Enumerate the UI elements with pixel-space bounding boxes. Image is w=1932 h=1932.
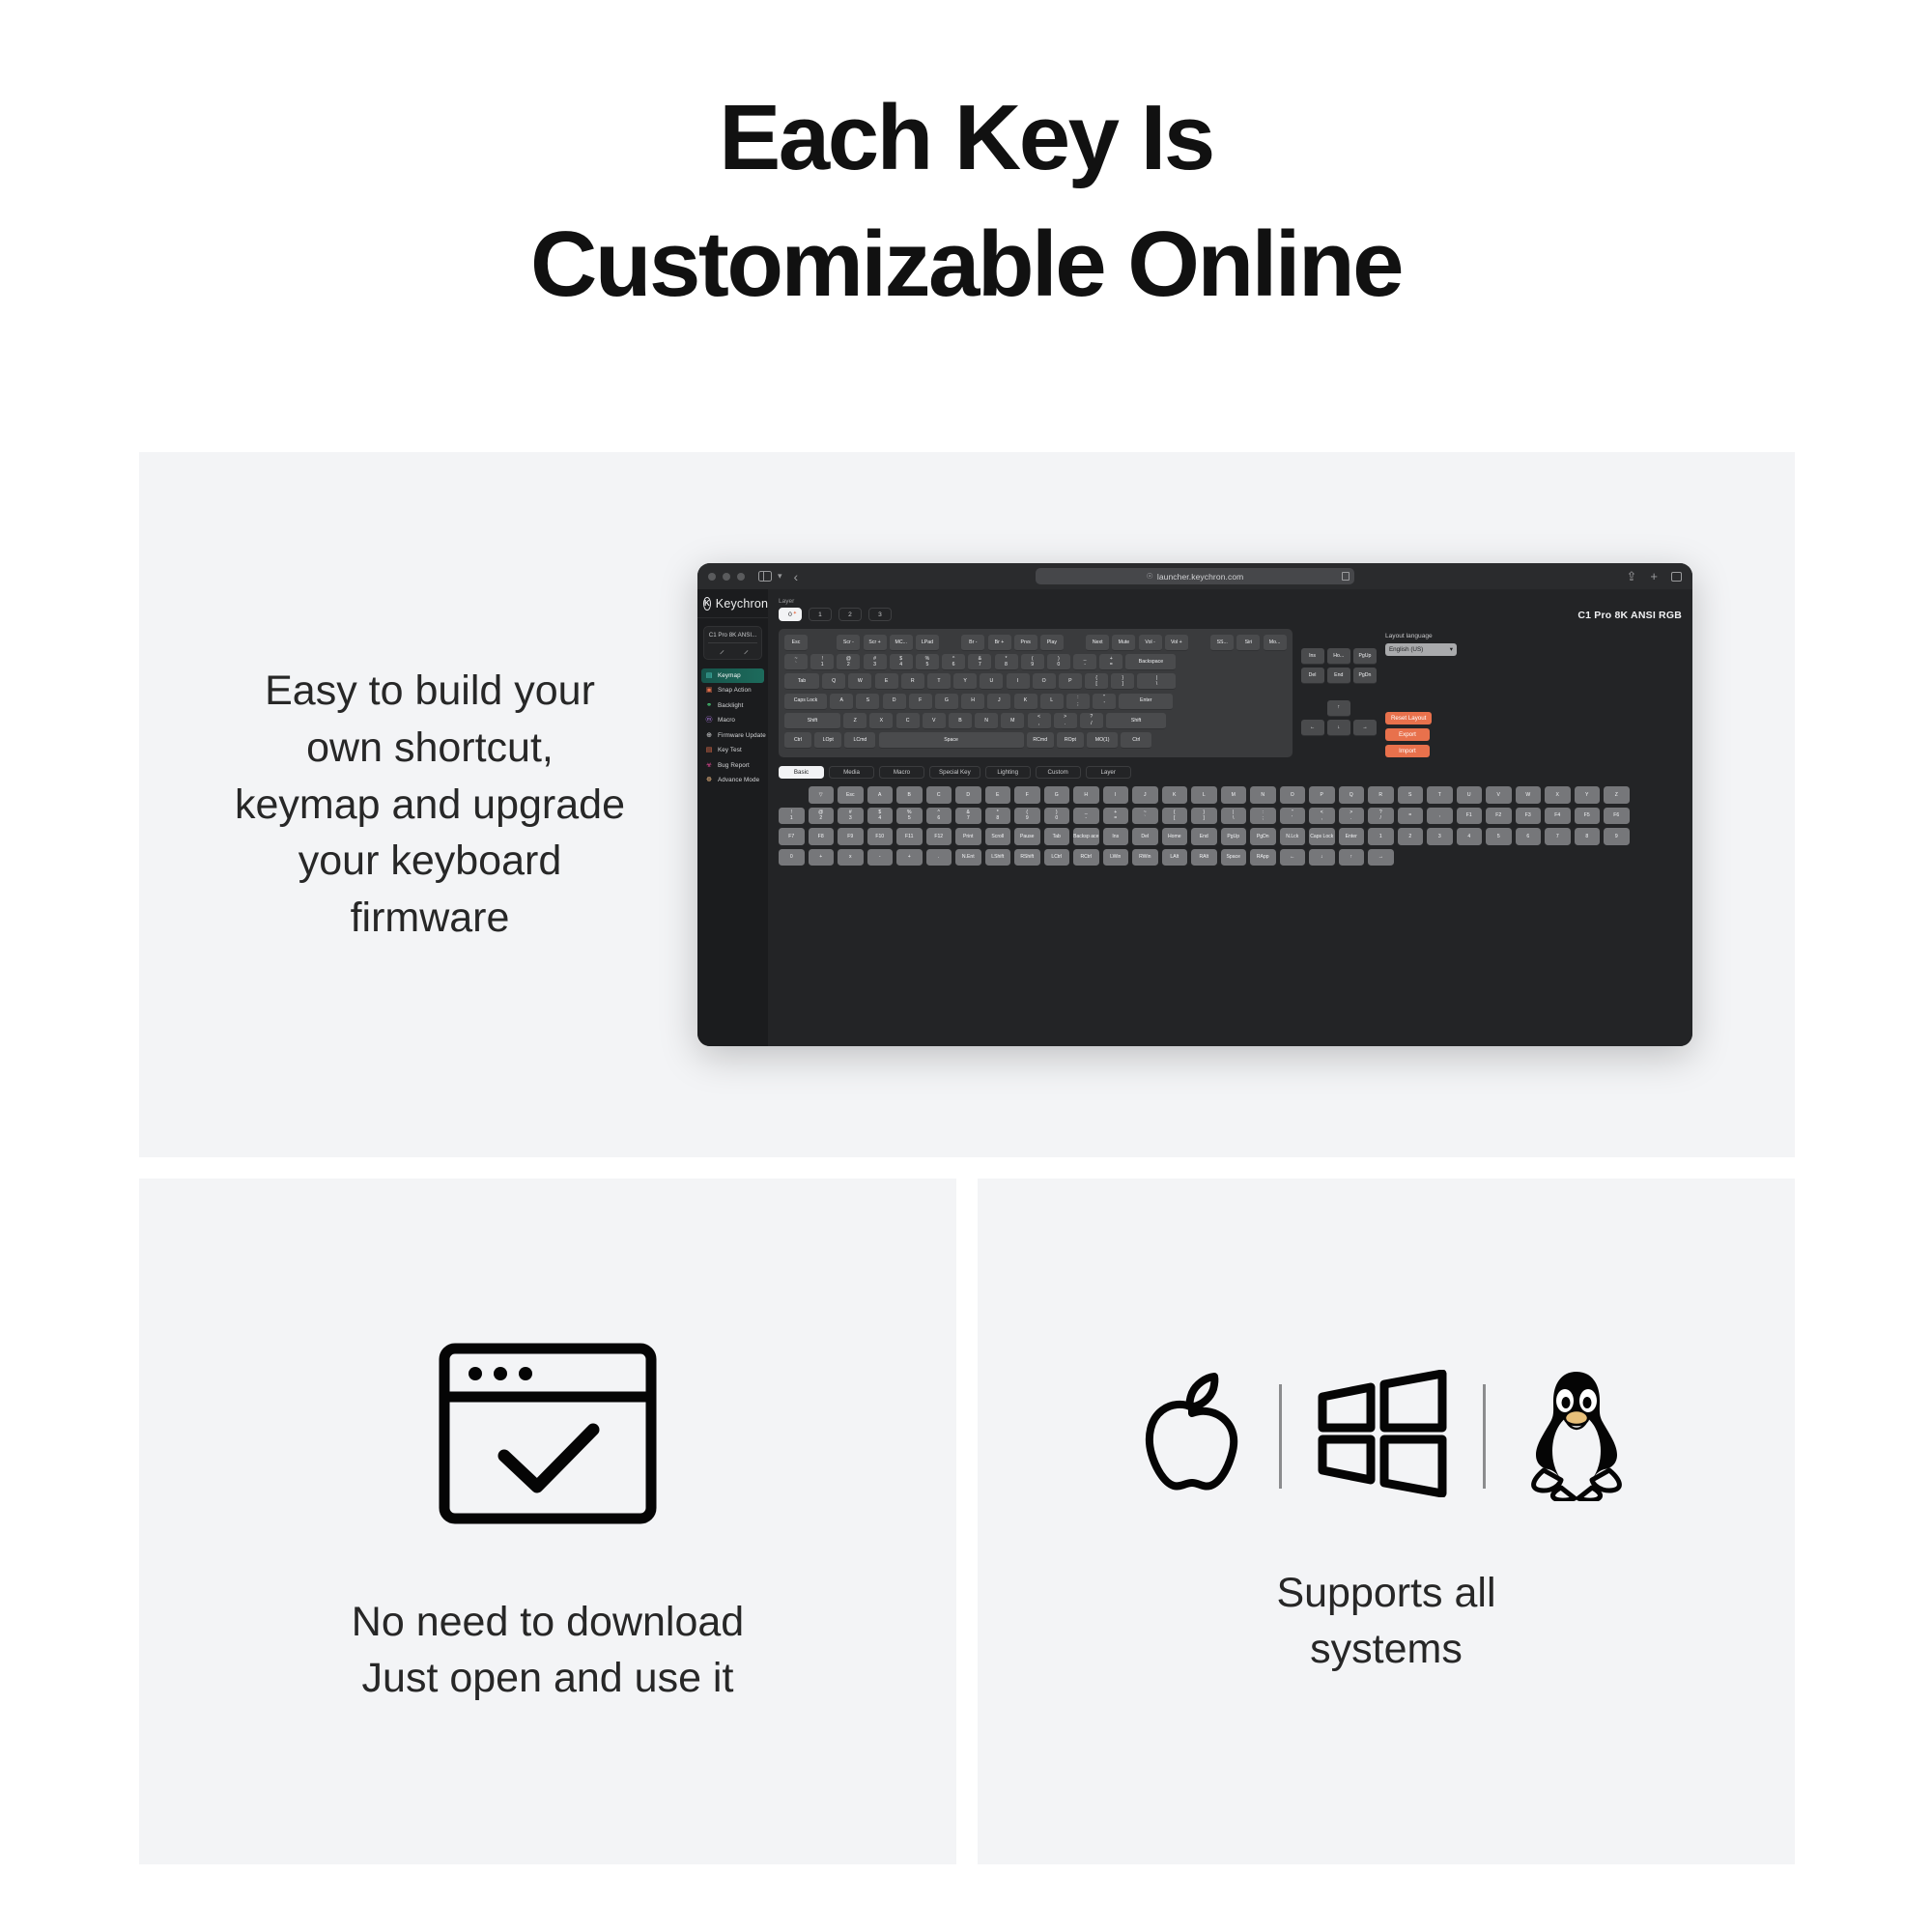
keyboard-key[interactable]: MC...	[890, 635, 913, 651]
key-picker-key[interactable]: ↑	[1339, 849, 1365, 867]
key-picker-key[interactable]: N.Ent	[955, 849, 981, 867]
key-picker-key[interactable]: +=	[1103, 808, 1129, 825]
key-lower-legend: 0	[1057, 662, 1060, 668]
keyboard-key[interactable]: D	[883, 694, 906, 710]
key-picker-key[interactable]: Enter	[1339, 828, 1365, 845]
sidebar-item-bug-report[interactable]: ☣ Bug Report	[701, 758, 764, 773]
key-picker-key[interactable]: &7	[955, 808, 981, 825]
keyboard-key[interactable]: "'	[1093, 694, 1116, 710]
key-lower-legend: 1	[821, 662, 824, 668]
keyboard-key[interactable]: *8	[995, 654, 1018, 670]
device-name: C1 Pro 8K ANSI...	[708, 632, 757, 643]
keymap-icon: ▤	[705, 671, 713, 679]
sidebar-toggle-icon[interactable]	[758, 571, 772, 582]
reset-layout-button[interactable]: Reset Layout	[1385, 712, 1432, 724]
key-picker-key[interactable]: )0	[1044, 808, 1070, 825]
key-picker-key[interactable]: ,	[1427, 808, 1453, 825]
key-picker-key[interactable]: Y	[1575, 786, 1601, 804]
key-picker-key[interactable]: "'	[1280, 808, 1306, 825]
key-picker-key[interactable]: ?/	[1368, 808, 1394, 825]
macro-icon: ⓜ	[705, 717, 713, 724]
key-picker-key[interactable]: @2	[809, 808, 835, 825]
key-picker-key[interactable]: 0	[779, 849, 805, 867]
keyboard-key[interactable]: MO(1)	[1087, 732, 1118, 749]
key-picker-key[interactable]: J	[1132, 786, 1158, 804]
keyboard-key[interactable]: Prvs	[1014, 635, 1037, 651]
keyboard-key[interactable]: (9	[1021, 654, 1044, 670]
key-picker-key[interactable]: PgDn	[1250, 828, 1276, 845]
key-picker-tab[interactable]: Custom	[1036, 766, 1081, 779]
key-picker-key[interactable]: Scroll	[985, 828, 1011, 845]
window-controls[interactable]	[708, 573, 745, 581]
keyboard-key[interactable]: Y	[953, 673, 977, 690]
keyboard-key[interactable]: End	[1327, 668, 1350, 684]
key-picker-key[interactable]: RApp	[1250, 849, 1276, 867]
plus-icon[interactable]: +	[1650, 569, 1658, 583]
key-picker-key[interactable]: F8	[809, 828, 835, 845]
key-picker-tab[interactable]: Lighting	[985, 766, 1031, 779]
page-title: Each Key Is Customizable Online	[0, 0, 1932, 327]
key-upper-legend: |	[1156, 675, 1157, 682]
chevron-down-icon: ▾	[1450, 646, 1453, 653]
key-picker-key[interactable]: X	[1545, 786, 1571, 804]
key-picker-key[interactable]: F9	[838, 828, 864, 845]
keyboard-key[interactable]: Vol -	[1139, 635, 1162, 651]
keyboard-key[interactable]: L	[1040, 694, 1064, 710]
key-picker-key[interactable]: _-	[1073, 808, 1099, 825]
keyboard-row: Caps LockASDFGHJKL:;"'Enter	[784, 694, 1287, 710]
keyboard-key[interactable]: Shift	[784, 713, 840, 729]
keyboard-key[interactable]: ?/	[1080, 713, 1103, 729]
key-picker-key[interactable]: H	[1073, 786, 1099, 804]
sidebar-nav: ▤ Keymap ▣ Snap Action ⚭ Backlight	[697, 668, 768, 787]
key-picker-key[interactable]: >.	[1339, 808, 1365, 825]
key-lower-legend: ,	[1038, 721, 1039, 727]
key-spacer	[810, 635, 834, 651]
key-spacer	[1066, 635, 1083, 651]
layout-side-panel: Layout language English (US) ▾ Reset Lay…	[1385, 629, 1682, 757]
keyboard-key[interactable]: }]	[1111, 673, 1134, 690]
keyboard-key[interactable]: SS...	[1210, 635, 1234, 651]
keyboard-key[interactable]: LPad	[916, 635, 939, 651]
keyboard-key[interactable]: ~`	[784, 654, 808, 670]
keyboard-key[interactable]: Tab	[784, 673, 819, 690]
key-picker-key[interactable]: G	[1044, 786, 1070, 804]
keyboard-key[interactable]: O	[1033, 673, 1056, 690]
sidebar-item-backlight[interactable]: ⚭ Backlight	[701, 698, 764, 713]
key-picker-key[interactable]: RCtrl	[1073, 849, 1099, 867]
key-lower-legend: 5	[925, 662, 928, 668]
keyboard-key[interactable]: PgUp	[1353, 648, 1377, 665]
sidebar-item-advance-mode[interactable]: ☸ Advance Mode	[701, 774, 764, 788]
key-picker-key[interactable]: Caps Lock	[1309, 828, 1335, 845]
keyboard-key[interactable]: )0	[1047, 654, 1070, 670]
key-picker-key[interactable]: |\	[1221, 808, 1247, 825]
key-picker-tab[interactable]: Special Key	[929, 766, 980, 779]
import-button[interactable]: Import	[1385, 745, 1430, 757]
key-picker-key[interactable]: →	[1368, 849, 1394, 867]
apple-icon	[1138, 1369, 1246, 1504]
keyboard-key[interactable]: Q	[822, 673, 845, 690]
key-picker-key[interactable]: }]	[1191, 808, 1217, 825]
key-upper-legend: _	[1084, 656, 1087, 663]
key-picker-key[interactable]: F12	[926, 828, 952, 845]
key-picker-key[interactable]: O	[1280, 786, 1306, 804]
keyboard-key[interactable]: W	[848, 673, 871, 690]
keyboard-key[interactable]: _-	[1073, 654, 1096, 670]
key-arrow-up[interactable]: ↑	[1327, 700, 1350, 717]
keyboard-key[interactable]: LOpt	[814, 732, 841, 749]
keyboard-key[interactable]: K	[1014, 694, 1037, 710]
layout-language-value: English (US)	[1389, 646, 1423, 653]
sidebar-item-keymap[interactable]: ▤ Keymap	[701, 668, 764, 683]
keyboard-key[interactable]: F	[909, 694, 932, 710]
key-picker-key[interactable]: F10	[867, 828, 894, 845]
keyboard-key[interactable]: B	[949, 713, 972, 729]
key-picker-key[interactable]: ▽	[809, 786, 835, 804]
keyboard-key[interactable]: P	[1059, 673, 1082, 690]
key-upper-legend: ?	[1090, 714, 1093, 721]
keyboard-key[interactable]: Del	[1301, 668, 1324, 684]
keyboard-key[interactable]: T	[927, 673, 951, 690]
key-picker-key[interactable]: Backsp ace	[1073, 828, 1099, 845]
keyboard-key[interactable]: H	[961, 694, 984, 710]
keyboard-key[interactable]: S	[856, 694, 879, 710]
keyboard-key[interactable]: #3	[864, 654, 887, 670]
key-lower-legend: 4	[899, 662, 902, 668]
key-picker-key[interactable]: N.Lck	[1280, 828, 1306, 845]
key-picker-key[interactable]: F6	[1604, 808, 1630, 825]
nav-cluster-row: DelEndPgDn	[1301, 668, 1377, 684]
arrow-bottom-row: ← ↓ →	[1301, 720, 1377, 736]
key-picker-key[interactable]: K	[1162, 786, 1188, 804]
key-picker-key[interactable]: :;	[1250, 808, 1276, 825]
keyboard-key[interactable]: Z	[843, 713, 867, 729]
reader-view-icon[interactable]	[1342, 572, 1350, 581]
keyboard-key[interactable]: Caps Lock	[784, 694, 827, 710]
key-picker-key[interactable]: P	[1309, 786, 1335, 804]
key-arrow-right[interactable]: →	[1353, 720, 1377, 736]
device-connection-icons: ⚊ ⚊	[708, 643, 757, 655]
key-upper-legend: (	[1032, 656, 1034, 663]
key-picker-key[interactable]: B	[896, 786, 923, 804]
key-picker-key[interactable]: LCtrl	[1044, 849, 1070, 867]
keyboard-key[interactable]: M	[1001, 713, 1024, 729]
keyboard-key[interactable]: :;	[1066, 694, 1090, 710]
app-sidebar: K Keychron C1 Pro 8K ANSI... ⚊ ⚊	[697, 589, 768, 1046]
key-picker-key[interactable]: +	[809, 849, 835, 867]
keyboard-key[interactable]: @2	[837, 654, 860, 670]
layer-button-3[interactable]: 3	[868, 608, 892, 621]
key-upper-legend: <	[1037, 714, 1040, 721]
keyboard-key[interactable]: ROpt	[1057, 732, 1084, 749]
sidebar-item-macro[interactable]: ⓜ Macro	[701, 714, 764, 728]
keyboard-key[interactable]: <,	[1028, 713, 1051, 729]
key-picker-key[interactable]: End	[1191, 828, 1217, 845]
keyboard-key[interactable]: Next	[1086, 635, 1109, 651]
back-chevron-icon[interactable]: ‹	[794, 570, 799, 583]
sidebar-item-label: Key Test	[718, 747, 742, 753]
key-picker-key[interactable]: I	[1103, 786, 1129, 804]
key-picker-key[interactable]: LAlt	[1162, 849, 1188, 867]
sidebar-item-label: Snap Action	[718, 687, 752, 694]
bug-report-icon: ☣	[705, 761, 713, 769]
key-picker-key[interactable]: Ins	[1103, 828, 1129, 845]
keyboard-key[interactable]: PgDn	[1353, 668, 1377, 684]
key-upper-legend: $	[899, 656, 902, 663]
key-picker-key[interactable]: W	[1516, 786, 1542, 804]
keyboard-key[interactable]: Shift	[1106, 713, 1166, 729]
key-picker-key[interactable]: F2	[1486, 808, 1512, 825]
keyboard-key[interactable]: I	[1007, 673, 1030, 690]
key-lower-legend: 2	[847, 662, 850, 668]
keyboard-key[interactable]: LCmd	[844, 732, 875, 749]
key-picker-row: ▽EscABCDEFGHIJKLMNOPQRSTUVWXYZ	[779, 786, 1682, 804]
app-main: Layer 0 ✦ 1 2 3	[768, 589, 1692, 1046]
key-picker-key[interactable]: F7	[779, 828, 805, 845]
key-lower-legend: -	[1084, 662, 1086, 668]
keyboard-key[interactable]: C	[896, 713, 920, 729]
keyboard-key[interactable]: |\	[1137, 673, 1176, 690]
supports-card-inner: Supports all systems	[978, 1179, 1795, 1864]
keyboard-key[interactable]: Play	[1040, 635, 1064, 651]
keyboard-key[interactable]: Enter	[1119, 694, 1173, 710]
keyboard-key[interactable]: Scr +	[864, 635, 887, 651]
key-picker-key[interactable]: Z	[1604, 786, 1630, 804]
key-spacer	[1191, 635, 1207, 651]
key-picker-key[interactable]: =	[1398, 808, 1424, 825]
key-picker-row: 0+x-+.N.EntLShiftRShiftLCtrlRCtrlLWinRWi…	[779, 849, 1682, 867]
key-picker-key[interactable]	[779, 786, 805, 804]
key-picker-key[interactable]: (9	[1014, 808, 1040, 825]
keyboard-key[interactable]: Scr -	[837, 635, 860, 651]
key-picker-key[interactable]: 3	[1427, 828, 1453, 845]
key-picker-key[interactable]: S	[1398, 786, 1424, 804]
key-picker-key[interactable]: ~`	[1132, 808, 1158, 825]
key-picker-key[interactable]: 5	[1486, 828, 1512, 845]
key-picker-key[interactable]: 1	[1368, 828, 1394, 845]
key-picker-key[interactable]: !1	[779, 808, 805, 825]
wireless-link-icon: ⚊	[740, 646, 750, 656]
key-picker-key[interactable]: F3	[1516, 808, 1542, 825]
keyboard-key[interactable]: V	[923, 713, 946, 729]
key-lower-legend: 3	[849, 815, 852, 821]
key-picker-key[interactable]: 2	[1398, 828, 1424, 845]
close-icon[interactable]	[708, 573, 716, 581]
key-picker-key[interactable]: D	[955, 786, 981, 804]
keyboard-key[interactable]: Ctrl	[784, 732, 811, 749]
key-picker-key[interactable]: M	[1221, 786, 1247, 804]
keyboard-key[interactable]: RCmd	[1027, 732, 1054, 749]
key-picker-key[interactable]: {[	[1162, 808, 1188, 825]
key-picker-key[interactable]: LWin	[1103, 849, 1129, 867]
main-header: Layer 0 ✦ 1 2 3	[779, 598, 1682, 621]
key-picker-key[interactable]: E	[985, 786, 1011, 804]
key-picker-key[interactable]: L	[1191, 786, 1217, 804]
keyboard-key[interactable]: &7	[968, 654, 991, 670]
keyboard-key[interactable]: A	[830, 694, 853, 710]
keyboard-key[interactable]: {[	[1085, 673, 1108, 690]
chrome-right-actions[interactable]: ⇪ +	[1627, 569, 1683, 584]
keyboard-key[interactable]: E	[875, 673, 898, 690]
key-picker-key[interactable]: F1	[1457, 808, 1483, 825]
key-picker-key[interactable]: Home	[1162, 828, 1188, 845]
browser-window: ▾ ‹ ☉ launcher.keychron.com ⇪ +	[697, 563, 1692, 1046]
key-lower-legend: 0	[1055, 815, 1058, 821]
keyboard-key[interactable]: N	[975, 713, 998, 729]
keyboard-key[interactable]: Esc	[784, 635, 808, 651]
divider	[1279, 1384, 1282, 1489]
keyboard-key[interactable]: J	[987, 694, 1010, 710]
minimize-icon[interactable]	[723, 573, 730, 581]
key-lower-legend: ;	[1263, 815, 1264, 821]
keyboard-row: EscScr -Scr +MC...LPadBr -Br +PrvsPlayNe…	[784, 635, 1287, 651]
keyboard-key[interactable]: %5	[916, 654, 939, 670]
key-picker-key[interactable]: Q	[1339, 786, 1365, 804]
key-lower-legend: 9	[1026, 815, 1029, 821]
key-upper-legend: &	[979, 656, 981, 663]
keyboard-key[interactable]: Ctrl	[1121, 732, 1151, 749]
keyboard-key[interactable]: >.	[1054, 713, 1077, 729]
key-picker-key[interactable]: V	[1486, 786, 1512, 804]
key-picker-key[interactable]: Tab	[1044, 828, 1070, 845]
keyboard-model-title: C1 Pro 8K ANSI RGB	[1577, 610, 1682, 621]
key-picker-key[interactable]: #3	[838, 808, 864, 825]
key-lower-legend: ]	[1122, 681, 1123, 688]
keyboard-key[interactable]: X	[869, 713, 893, 729]
key-picker-tab[interactable]: Layer	[1086, 766, 1131, 779]
key-picker-key[interactable]: <,	[1309, 808, 1335, 825]
keyboard-key[interactable]: Mo...	[1264, 635, 1287, 651]
key-picker-key[interactable]: 6	[1516, 828, 1542, 845]
key-lower-legend: =	[1114, 815, 1117, 821]
key-picker-key[interactable]: T	[1427, 786, 1453, 804]
keyboard-key[interactable]: R	[901, 673, 924, 690]
key-lower-legend: 8	[1005, 662, 1008, 668]
keyboard-key[interactable]: Vol +	[1165, 635, 1188, 651]
key-picker-key[interactable]: x	[838, 849, 864, 867]
key-picker-tab[interactable]: Media	[829, 766, 874, 779]
key-picker-key[interactable]: Print	[955, 828, 981, 845]
keyboard-key[interactable]: Ho...	[1327, 648, 1350, 665]
blurb-line: firmware	[180, 890, 680, 947]
key-picker-tab[interactable]: Macro	[879, 766, 924, 779]
key-picker-key[interactable]: ↓	[1309, 849, 1335, 867]
tabs-icon[interactable]	[1671, 572, 1682, 582]
sidebar-item-key-test[interactable]: ▤ Key Test	[701, 744, 764, 758]
keyboard-key[interactable]: Ins	[1301, 648, 1324, 665]
sidebar-item-firmware-update[interactable]: ⊕ Firmware Update	[701, 728, 764, 743]
key-picker-key[interactable]: RAlt	[1191, 849, 1217, 867]
layer-button-1[interactable]: 1	[809, 608, 832, 621]
export-button[interactable]: Export	[1385, 728, 1430, 741]
keyboard-row: ~`!1@2#3$4%5^6&7*8(9)0_-+=Backspace	[784, 654, 1287, 670]
key-picker-key[interactable]: RShift	[1014, 849, 1040, 867]
sidebar-item-snap-action[interactable]: ▣ Snap Action	[701, 684, 764, 698]
key-picker-key[interactable]: ^6	[926, 808, 952, 825]
keyboard-key[interactable]: Br -	[961, 635, 984, 651]
keyboard-key[interactable]: +=	[1099, 654, 1122, 670]
keyboard-key[interactable]: Mute	[1112, 635, 1135, 651]
keyboard-row: ShiftZXCVBNM<,>.?/Shift	[784, 713, 1287, 729]
key-picker-key[interactable]: RWin	[1132, 849, 1158, 867]
keyboard-key[interactable]: G	[935, 694, 958, 710]
address-bar[interactable]: ☉ launcher.keychron.com	[1036, 568, 1354, 584]
key-picker-key[interactable]: LShift	[985, 849, 1011, 867]
key-arrow-down[interactable]: ↓	[1327, 720, 1350, 736]
key-picker-key[interactable]: 9	[1604, 828, 1630, 845]
sidebar-toggle-group[interactable]: ▾	[758, 571, 782, 582]
key-picker-key[interactable]: N	[1250, 786, 1276, 804]
layer-button-0[interactable]: 0 ✦	[779, 608, 802, 621]
layout-language-select[interactable]: English (US) ▾	[1385, 643, 1457, 656]
linux-penguin-icon	[1519, 1366, 1634, 1506]
key-picker-key[interactable]: 8	[1575, 828, 1601, 845]
key-picker-key[interactable]: $4	[867, 808, 894, 825]
key-picker-key[interactable]: U	[1457, 786, 1483, 804]
keychron-logo-icon: K	[703, 597, 711, 611]
key-picker-key[interactable]: %5	[896, 808, 923, 825]
key-picker-key[interactable]: .	[926, 849, 952, 867]
key-picker-key[interactable]: F	[1014, 786, 1040, 804]
key-picker-key[interactable]: Del	[1132, 828, 1158, 845]
keyboard-key[interactable]: Br +	[988, 635, 1011, 651]
key-picker-key[interactable]: 4	[1457, 828, 1483, 845]
keyboard-key[interactable]: Backspace	[1125, 654, 1176, 670]
key-lower-legend: '	[1104, 701, 1105, 708]
key-picker-key[interactable]: Space	[1221, 849, 1247, 867]
key-lower-legend: 3	[873, 662, 876, 668]
key-picker-key[interactable]: PgUp	[1221, 828, 1247, 845]
keyboard-nav-cluster: InsHo...PgUpDelEndPgDn ↑ ← ↓ →	[1301, 629, 1377, 757]
keyboard-key[interactable]: $4	[890, 654, 913, 670]
app-body: K Keychron C1 Pro 8K ANSI... ⚊ ⚊	[697, 589, 1692, 1046]
keyboard-key[interactable]: !1	[810, 654, 834, 670]
keyboard-key[interactable]: Siri	[1236, 635, 1260, 651]
key-picker-key[interactable]: C	[926, 786, 952, 804]
key-picker-key[interactable]: ←	[1280, 849, 1306, 867]
arrow-cluster: ↑ ← ↓ →	[1301, 700, 1377, 736]
key-picker-key[interactable]: R	[1368, 786, 1394, 804]
keyboard-key[interactable]: ^6	[942, 654, 965, 670]
key-picker-key[interactable]: Esc	[838, 786, 864, 804]
key-picker-key[interactable]: A	[867, 786, 894, 804]
key-picker-key[interactable]: F5	[1575, 808, 1601, 825]
keyboard-key[interactable]: Space	[879, 732, 1024, 749]
key-lower-legend: 4	[878, 815, 881, 821]
key-picker-key[interactable]: 7	[1545, 828, 1571, 845]
key-picker-key[interactable]: F11	[896, 828, 923, 845]
key-picker-key[interactable]: -	[867, 849, 894, 867]
key-picker-tab[interactable]: Basic	[779, 766, 824, 779]
layer-button-2[interactable]: 2	[838, 608, 862, 621]
brand-row: K Keychron	[697, 589, 768, 618]
key-lower-legend: \	[1233, 815, 1234, 821]
keyboard-area: EscScr -Scr +MC...LPadBr -Br +PrvsPlayNe…	[779, 629, 1682, 757]
key-picker-key[interactable]: +	[896, 849, 923, 867]
key-upper-legend: @	[846, 656, 851, 663]
key-picker-key[interactable]: Pause	[1014, 828, 1040, 845]
share-icon[interactable]: ⇪	[1627, 569, 1637, 584]
key-arrow-left[interactable]: ←	[1301, 720, 1324, 736]
key-picker-key[interactable]: *8	[985, 808, 1011, 825]
maximize-icon[interactable]	[737, 573, 745, 581]
key-upper-legend: )	[1058, 656, 1060, 663]
chevron-down-icon[interactable]: ▾	[778, 571, 782, 582]
device-card[interactable]: C1 Pro 8K ANSI... ⚊ ⚊	[703, 626, 762, 660]
key-picker-key[interactable]: F4	[1545, 808, 1571, 825]
keyboard-key[interactable]: U	[980, 673, 1003, 690]
